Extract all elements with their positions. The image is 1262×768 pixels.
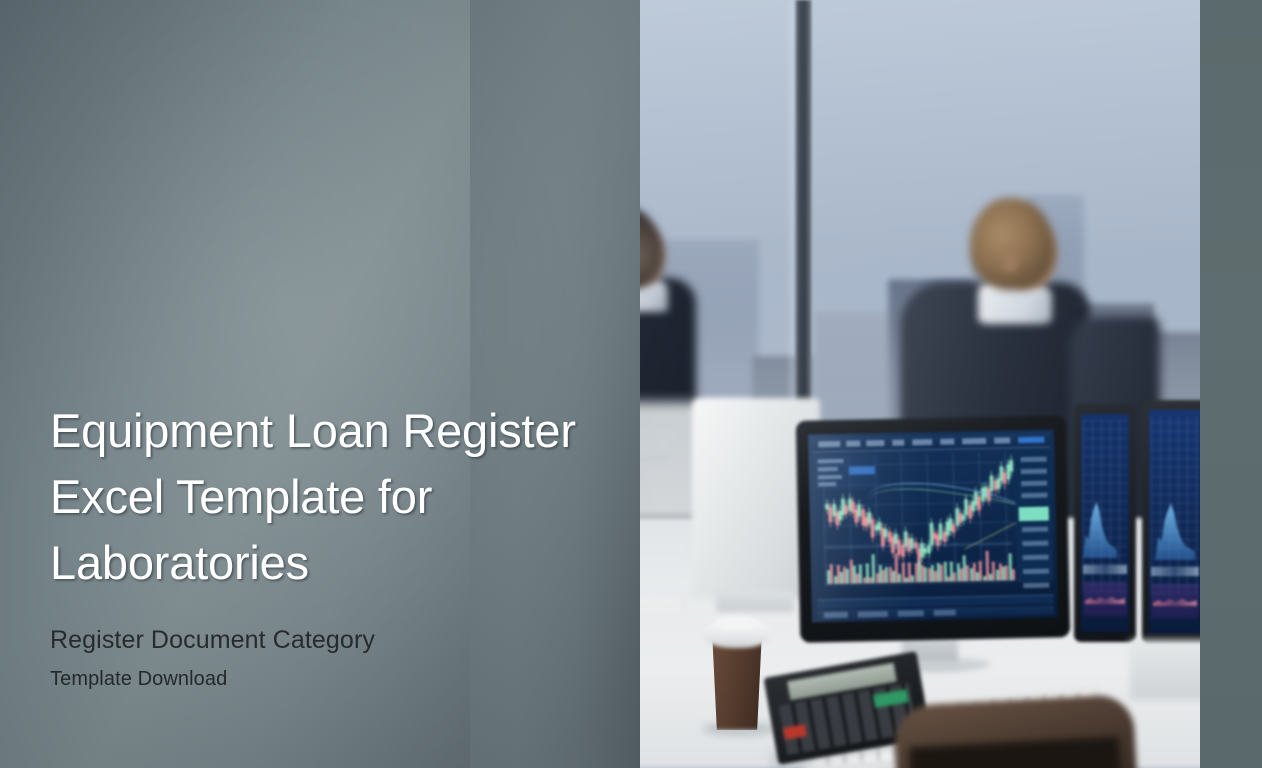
coffee-cup-lid-top	[714, 616, 760, 630]
businessman-right-head	[970, 198, 1054, 290]
silver-monitor-stand	[716, 590, 794, 612]
volume-bar	[1012, 569, 1015, 581]
businessman-right-ear	[1002, 250, 1018, 272]
candle	[1009, 460, 1012, 471]
tertiary-monitor-screen	[1149, 410, 1201, 634]
document-category-label: Register Document Category	[50, 623, 590, 657]
secondary-monitor-screen	[1081, 414, 1129, 632]
page-title: Equipment Loan Register Excel Template f…	[50, 398, 590, 596]
trading-chart-screen	[808, 429, 1058, 622]
text-block: Equipment Loan Register Excel Template f…	[50, 398, 590, 693]
right-edge-bar	[1200, 0, 1262, 768]
slide-canvas: Equipment Loan Register Excel Template f…	[0, 0, 1262, 768]
coffee-cup-body	[709, 638, 765, 730]
price-ladder	[1014, 451, 1053, 583]
template-download-label: Template Download	[50, 666, 590, 693]
